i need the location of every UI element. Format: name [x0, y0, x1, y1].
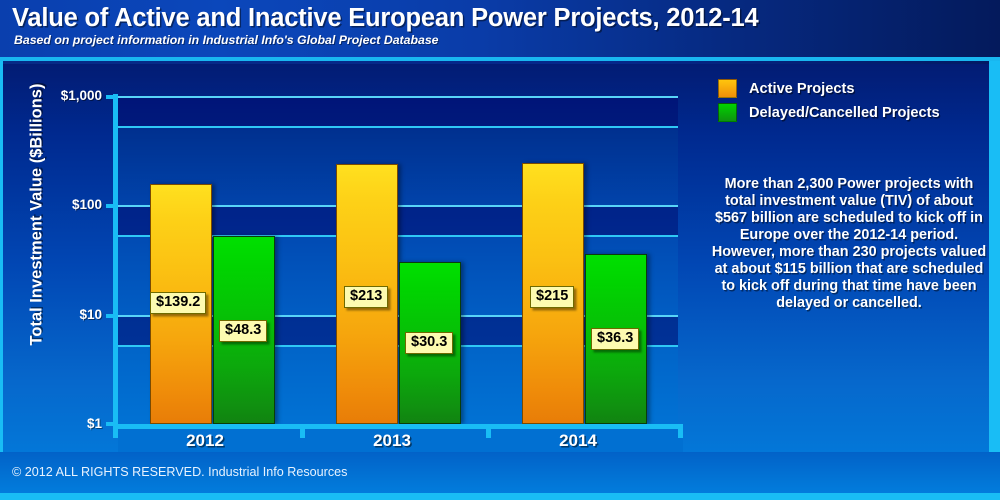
- header-banner: Value of Active and Inactive European Po…: [0, 0, 1000, 57]
- plot-band-1: [118, 96, 678, 126]
- y-tick-label-1: $1: [87, 416, 102, 431]
- y-tick-label-10: $10: [79, 307, 102, 322]
- data-label-delayed-2012: $48.3: [219, 320, 267, 342]
- legend-item-active[interactable]: Active Projects: [718, 79, 940, 98]
- legend-item-delayed[interactable]: Delayed/Cancelled Projects: [718, 103, 940, 122]
- x-axis-line: [113, 424, 683, 429]
- chart-legend: Active Projects Delayed/Cancelled Projec…: [718, 79, 940, 127]
- x-tick-label-2014: 2014: [528, 431, 628, 451]
- data-label-delayed-2013: $30.3: [405, 332, 453, 354]
- copyright-text: © 2012 ALL RIGHTS RESERVED. Industrial I…: [12, 465, 347, 479]
- frame-right-border: [989, 61, 1000, 493]
- legend-label-active: Active Projects: [749, 81, 854, 97]
- data-label-active-2014: $215: [530, 286, 574, 308]
- data-label-delayed-2014: $36.3: [591, 328, 639, 350]
- chart-infographic: Value of Active and Inactive European Po…: [0, 0, 1000, 500]
- legend-swatch-active-icon: [718, 79, 737, 98]
- page-title: Value of Active and Inactive European Po…: [12, 4, 759, 33]
- legend-label-delayed: Delayed/Cancelled Projects: [749, 105, 940, 121]
- gridline-1000: [118, 96, 678, 98]
- frame-left-border: [0, 61, 3, 493]
- footer-divider: [0, 493, 1000, 500]
- x-tick-label-2013: 2013: [342, 431, 442, 451]
- y-tick-label-100: $100: [72, 197, 102, 212]
- y-axis-labels: $1,000 $100 $10 $1: [20, 0, 102, 500]
- gridline-minor-a: [118, 126, 678, 128]
- data-label-active-2013: $213: [344, 286, 388, 308]
- y-tick-label-1000: $1,000: [61, 88, 102, 103]
- x-tick-mark-end: [678, 424, 683, 438]
- x-tick-mark-2013-2014: [486, 424, 491, 438]
- plot-area: $139.2 $48.3 $213 $30.3 $215 $36.3: [118, 96, 678, 424]
- data-label-active-2012: $139.2: [150, 292, 206, 314]
- x-tick-label-2012: 2012: [155, 431, 255, 451]
- x-tick-mark-2012-2013: [300, 424, 305, 438]
- commentary-text: More than 2,300 Power projects with tota…: [710, 176, 988, 312]
- legend-swatch-delayed-icon: [718, 103, 737, 122]
- x-tick-mark-start: [113, 424, 118, 438]
